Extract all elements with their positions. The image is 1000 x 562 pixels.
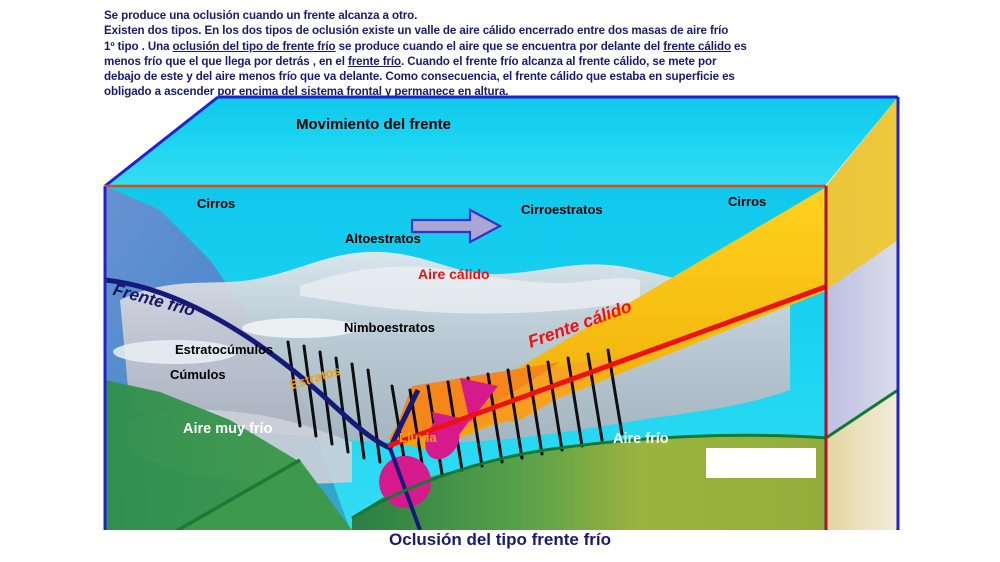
intro-line-2: Existen dos tipos. En los dos tipos de o… [104,23,904,38]
intro-paragraph: Se produce una oclusión cuando un frente… [104,8,904,100]
diagram-canvas [0,90,1000,530]
weather-diagram: Movimiento del frente Cirros Cirroestrat… [0,90,1000,530]
cloud-wisp-cirrus [242,318,358,338]
figure-caption: Oclusión del tipo frente frío [0,530,1000,550]
legend-box [706,448,816,478]
intro-emphasis: oclusión del tipo de frente frío [173,40,336,53]
intro-emphasis: frente frío [348,55,401,68]
intro-line-3: 1º tipo . Una oclusión del tipo de frent… [104,39,904,54]
box-back-wall [105,97,898,186]
intro-emphasis: frente cálido [663,40,731,53]
intro-line-5: debajo de este y del aire menos frío que… [104,69,904,84]
intro-line-1: Se produce una oclusión cuando un frente… [104,8,904,23]
diagram-page: Se produce una oclusión cuando un frente… [0,0,1000,562]
cloud-wisp-left [113,340,237,364]
intro-line-4: menos frío que el que llega por detrás ,… [104,54,904,69]
